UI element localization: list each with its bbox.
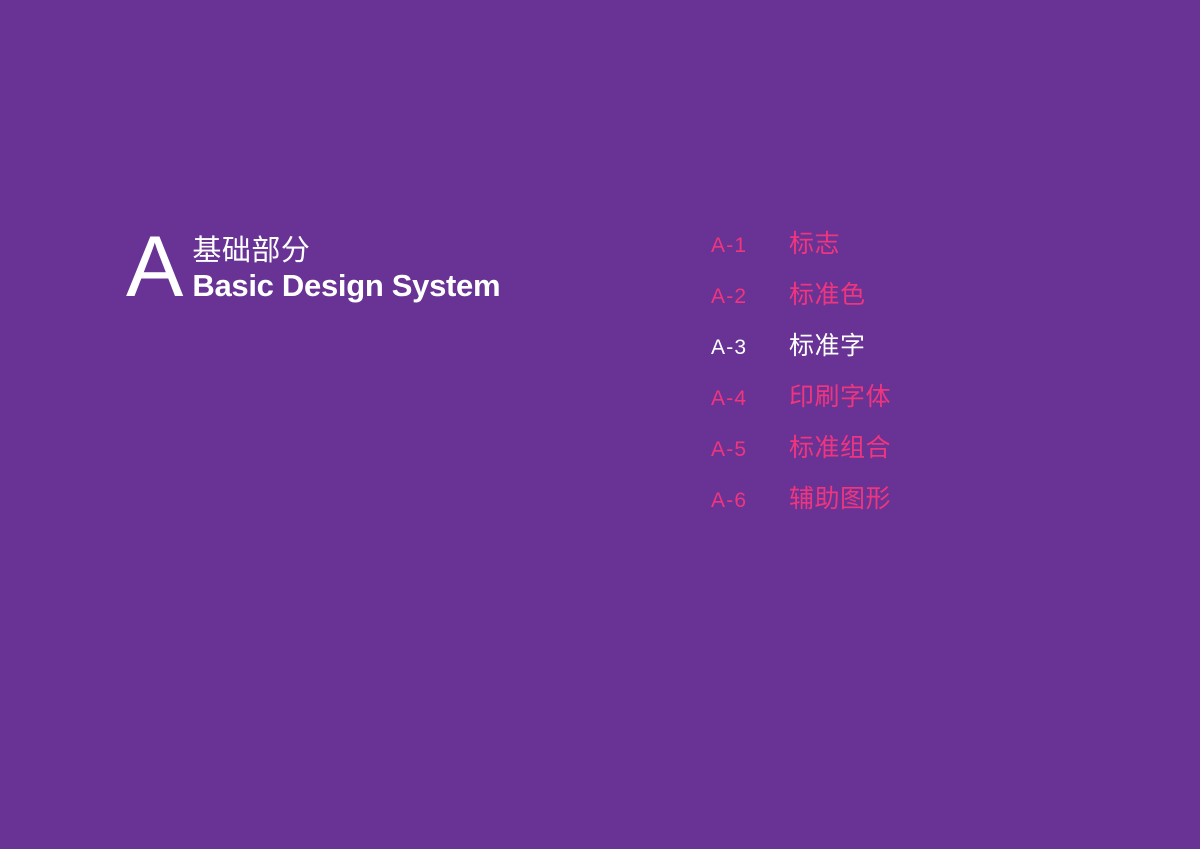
- section-title-group: 基础部分 Basic Design System: [192, 234, 500, 304]
- contents-item-code: A-4: [711, 387, 789, 411]
- contents-item-label: 印刷字体: [789, 377, 891, 413]
- contents-item-a5[interactable]: A-5 标准组合: [711, 428, 891, 479]
- brand-guideline-divider-page: A 基础部分 Basic Design System A-1 标志 A-2 标准…: [0, 0, 1200, 849]
- contents-item-label: 辅助图形: [789, 479, 891, 515]
- section-title-chinese: 基础部分: [192, 234, 500, 268]
- contents-item-a3[interactable]: A-3 标准字: [711, 326, 891, 377]
- section-title-english: Basic Design System: [192, 269, 500, 304]
- contents-item-label: 标志: [789, 224, 840, 260]
- contents-item-code: A-3: [711, 336, 789, 360]
- section-title-block: A 基础部分 Basic Design System: [126, 228, 500, 306]
- contents-list: A-1 标志 A-2 标准色 A-3 标准字 A-4 印刷字体 A-5 标准组合…: [711, 224, 891, 530]
- contents-item-a6[interactable]: A-6 辅助图形: [711, 479, 891, 530]
- contents-item-a1[interactable]: A-1 标志: [711, 224, 891, 275]
- contents-item-code: A-5: [711, 438, 789, 462]
- contents-item-label: 标准组合: [789, 428, 891, 464]
- contents-item-a2[interactable]: A-2 标准色: [711, 275, 891, 326]
- contents-item-a4[interactable]: A-4 印刷字体: [711, 377, 891, 428]
- contents-item-code: A-1: [711, 234, 789, 258]
- contents-item-label: 标准字: [789, 326, 866, 362]
- contents-item-code: A-2: [711, 285, 789, 309]
- contents-item-code: A-6: [711, 489, 789, 513]
- contents-item-label: 标准色: [789, 275, 866, 311]
- section-letter: A: [126, 230, 182, 306]
